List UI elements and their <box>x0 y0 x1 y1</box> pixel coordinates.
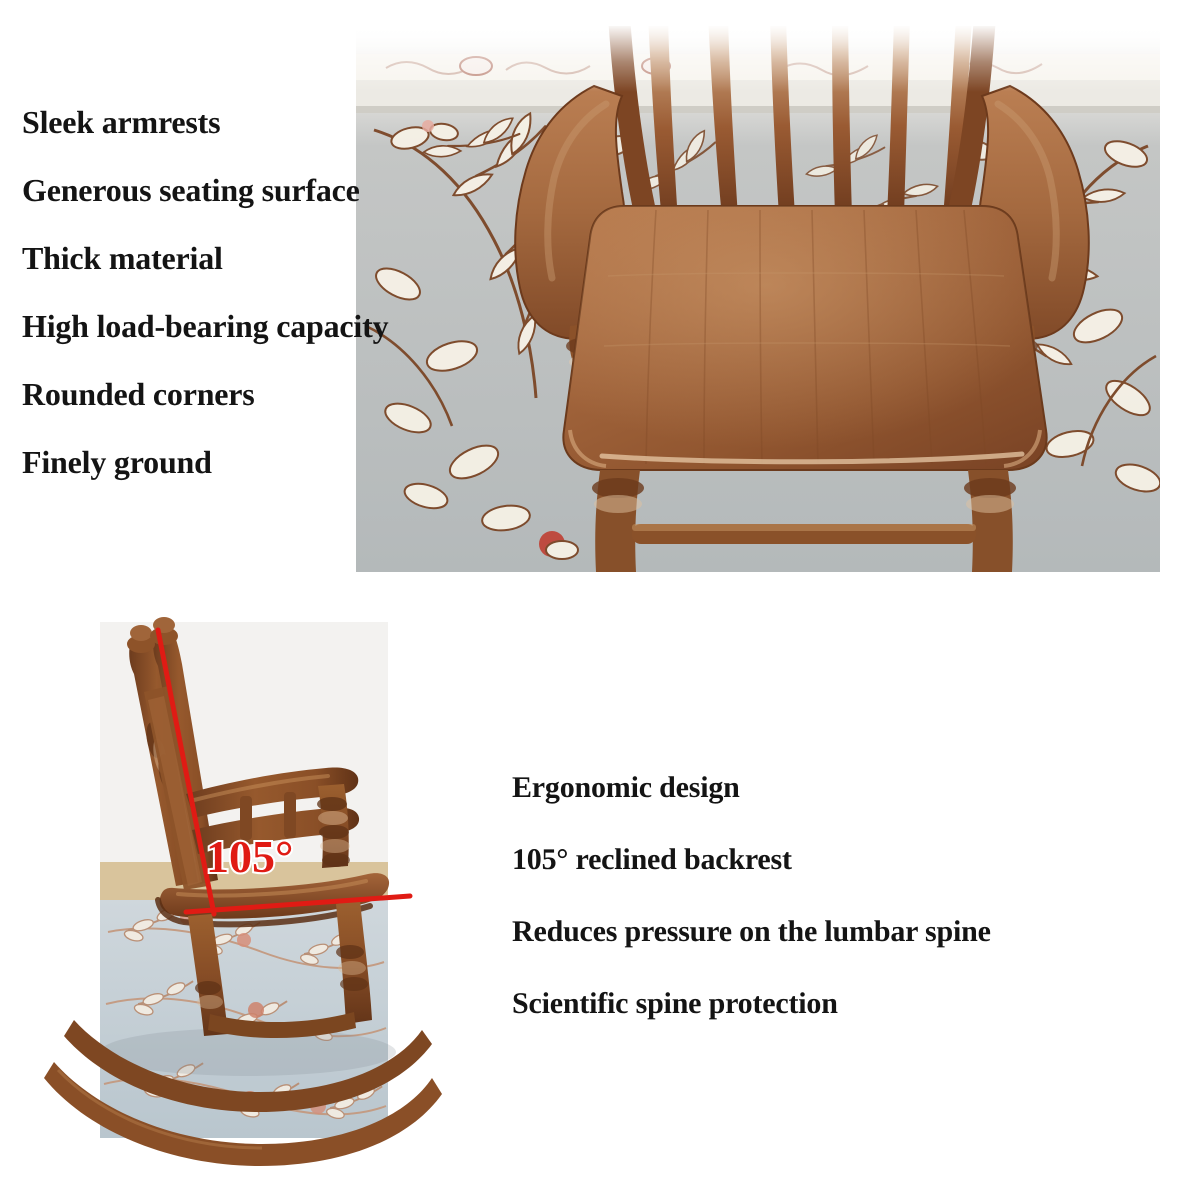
feature-item: Scientific spine protection <box>512 968 991 1040</box>
feature-item: 105° reclined backrest <box>512 824 991 896</box>
top-feature-list: Sleek armrests Generous seating surface … <box>22 88 388 496</box>
feature-item: Sleek armrests <box>22 88 388 156</box>
feature-item: Thick material <box>22 224 388 292</box>
chair-seat <box>563 206 1046 470</box>
feature-item: Ergonomic design <box>512 752 991 824</box>
angle-label: 105° <box>206 831 293 882</box>
feature-item: Generous seating surface <box>22 156 388 224</box>
feature-item: Reduces pressure on the lumbar spine <box>512 896 991 968</box>
highlight-wash <box>356 26 1160 92</box>
seat-detail-illustration <box>356 26 1160 572</box>
feature-item: High load-bearing capacity <box>22 292 388 360</box>
feature-item: Finely ground <box>22 428 388 496</box>
bottom-feature-list: Ergonomic design 105° reclined backrest … <box>512 752 991 1040</box>
product-photo-recline-angle: 105° <box>18 600 468 1180</box>
infographic-canvas: Sleek armrests Generous seating surface … <box>0 0 1200 1200</box>
recline-angle-illustration: 105° <box>18 600 468 1180</box>
feature-item: Rounded corners <box>22 360 388 428</box>
product-photo-seat-detail <box>356 26 1160 572</box>
